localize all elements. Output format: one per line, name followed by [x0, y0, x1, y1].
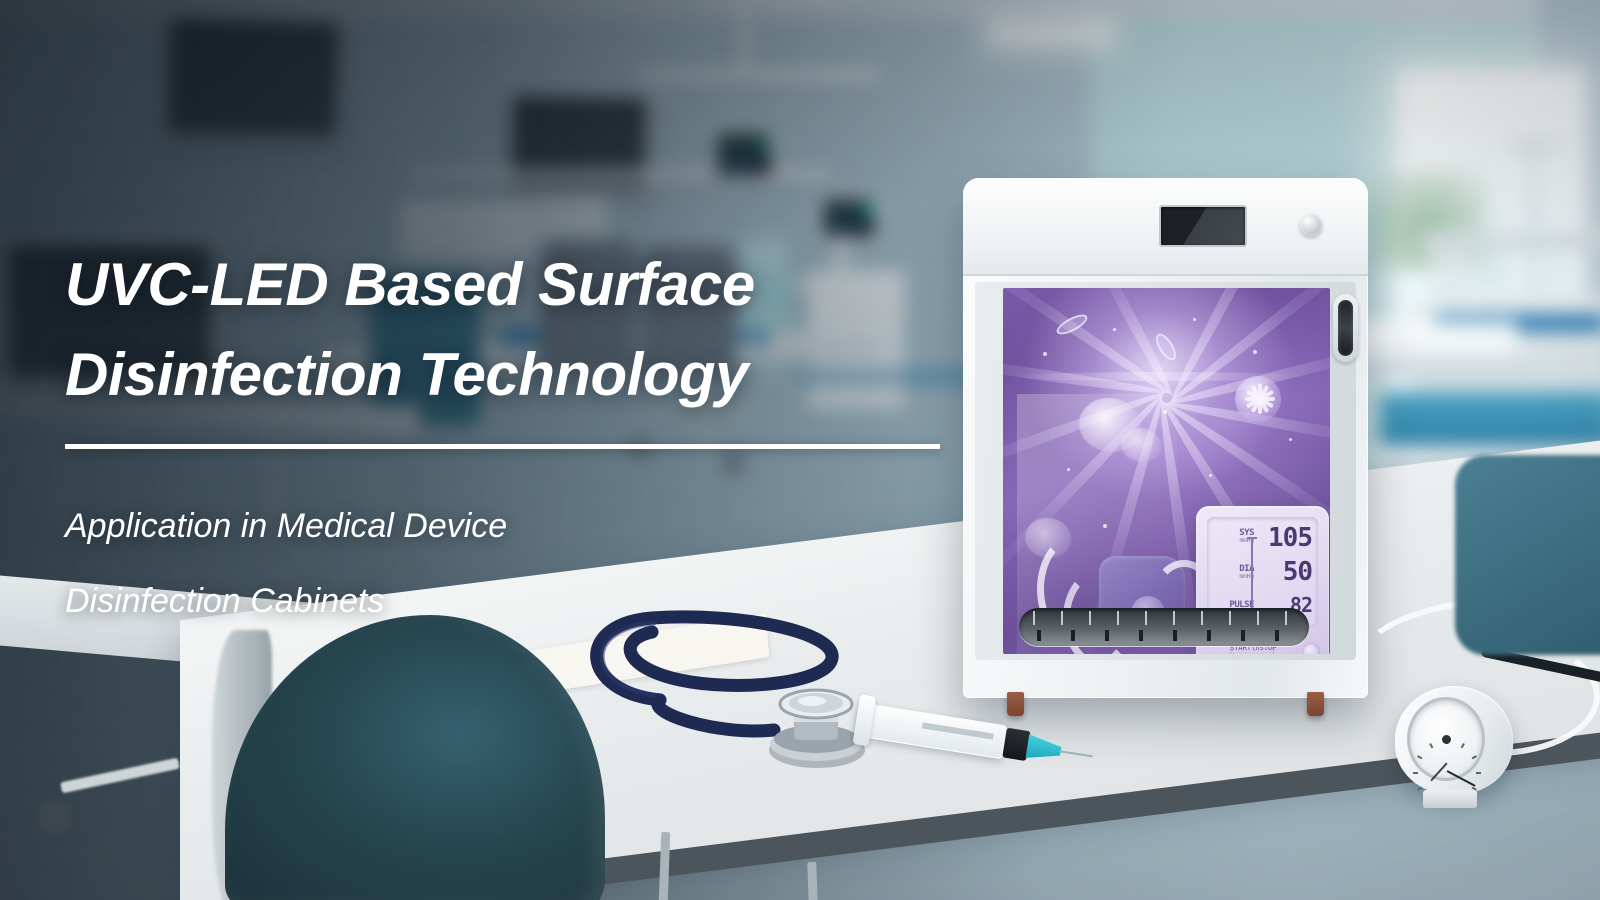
title-block: UVC-LED Based Surface Disinfection Techn… [65, 240, 965, 639]
title-divider [65, 444, 940, 449]
cabinet-knob-icon[interactable] [1300, 214, 1322, 236]
cabinet-door-frame[interactable]: UVC SYS mmHg DIA mmHg [975, 282, 1356, 660]
germ-cluster-icon [1121, 428, 1161, 462]
cabinet-door-handle[interactable] [1333, 294, 1358, 362]
slide-canvas: UVC SYS mmHg DIA mmHg [0, 0, 1600, 900]
table-leg [807, 862, 817, 900]
gauge-needle-tail [1430, 762, 1448, 781]
gauge-hub [1442, 735, 1451, 744]
bp-power-button[interactable] [1302, 643, 1320, 654]
page-title-line-2: Disinfection Technology [65, 330, 965, 420]
subtitle-line-2: Disinfection Cabinets [65, 564, 965, 639]
syringe-needle-hub [1025, 734, 1062, 763]
virus-icon [1235, 376, 1281, 422]
bp-sys-value: 105 [1268, 523, 1312, 553]
pressure-gauge [1395, 686, 1513, 794]
cabinet-display-screen[interactable] [1159, 205, 1247, 247]
gauge-base [1423, 790, 1477, 808]
foreground-chair-right [1455, 455, 1600, 655]
cabinet-leg [1007, 692, 1024, 716]
bp-scale-bar [1251, 537, 1253, 615]
stethoscope-chestpiece [769, 690, 865, 768]
bp-dia-value: 50 [1283, 557, 1312, 587]
cabinet-vent-grille [1019, 608, 1309, 646]
uv-disinfection-cabinet[interactable]: UVC SYS mmHg DIA mmHg [963, 178, 1368, 698]
page-title-line-1: UVC-LED Based Surface [65, 240, 965, 330]
cabinet-glass-door[interactable]: UVC SYS mmHg DIA mmHg [1003, 288, 1330, 654]
subtitle-line-1: Application in Medical Device [65, 489, 965, 564]
cabinet-top-panel [963, 178, 1368, 276]
gauge-dial-face [1407, 697, 1485, 781]
cabinet-leg [1307, 692, 1324, 716]
